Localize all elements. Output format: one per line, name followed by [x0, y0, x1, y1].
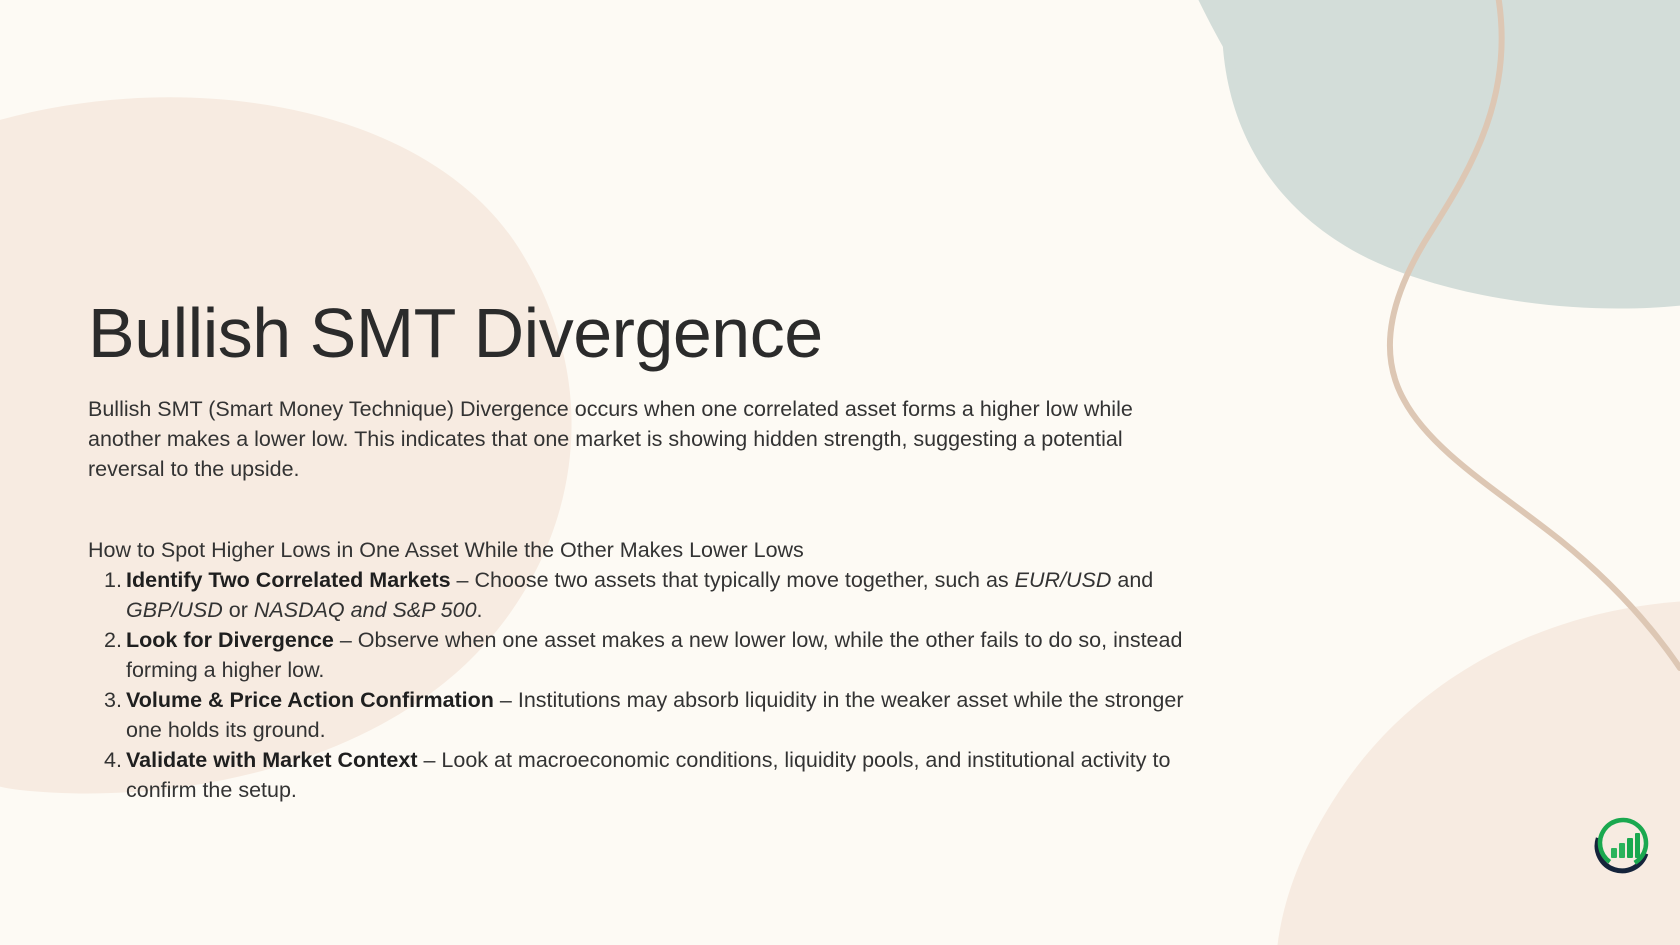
list-item: Identify Two Correlated Markets – Choose…	[88, 565, 1208, 625]
page-title: Bullish SMT Divergence	[88, 296, 1208, 372]
step-lead-label: Identify Two Correlated Markets	[126, 568, 451, 592]
sage-blob-top-right	[1222, 0, 1680, 309]
step-lead-label: Validate with Market Context	[126, 748, 418, 772]
logo-bar-4	[1635, 833, 1640, 858]
logo-bar-2	[1619, 843, 1625, 858]
bar-chart-circle-logo	[1592, 812, 1654, 874]
tan-wave-line	[1390, 0, 1680, 668]
sage-blob-top-right-body	[1180, 0, 1680, 276]
slide-content: Bullish SMT Divergence Bullish SMT (Smar…	[88, 296, 1208, 805]
list-item: Volume & Price Action Confirmation – Ins…	[88, 685, 1208, 745]
logo-bar-3	[1627, 838, 1633, 858]
step-conjunction-1: and	[1111, 568, 1153, 592]
list-item: Look for Divergence – Observe when one a…	[88, 625, 1208, 685]
step-dash: –	[494, 688, 518, 712]
step-text-tail: .	[477, 598, 483, 622]
step-dash: –	[418, 748, 442, 772]
steps-list: Identify Two Correlated Markets – Choose…	[88, 565, 1208, 805]
step-italic-pair-1: EUR/USD	[1015, 568, 1112, 592]
peach-blob-bottom-right	[1276, 600, 1680, 945]
list-item: Validate with Market Context – Look at m…	[88, 745, 1208, 805]
step-dash: –	[451, 568, 475, 592]
intro-paragraph: Bullish SMT (Smart Money Technique) Dive…	[88, 394, 1133, 484]
section-heading: How to Spot Higher Lows in One Asset Whi…	[88, 535, 1208, 565]
step-lead-label: Look for Divergence	[126, 628, 334, 652]
step-dash: –	[334, 628, 358, 652]
step-lead-label: Volume & Price Action Confirmation	[126, 688, 494, 712]
slide-canvas: Bullish SMT Divergence Bullish SMT (Smar…	[0, 0, 1680, 945]
logo-bar-1	[1611, 848, 1617, 858]
step-italic-pair-3: NASDAQ and S&P 500	[254, 598, 477, 622]
step-conjunction-2: or	[223, 598, 254, 622]
step-text: Choose two assets that typically move to…	[474, 568, 1014, 592]
step-italic-pair-2: GBP/USD	[126, 598, 223, 622]
